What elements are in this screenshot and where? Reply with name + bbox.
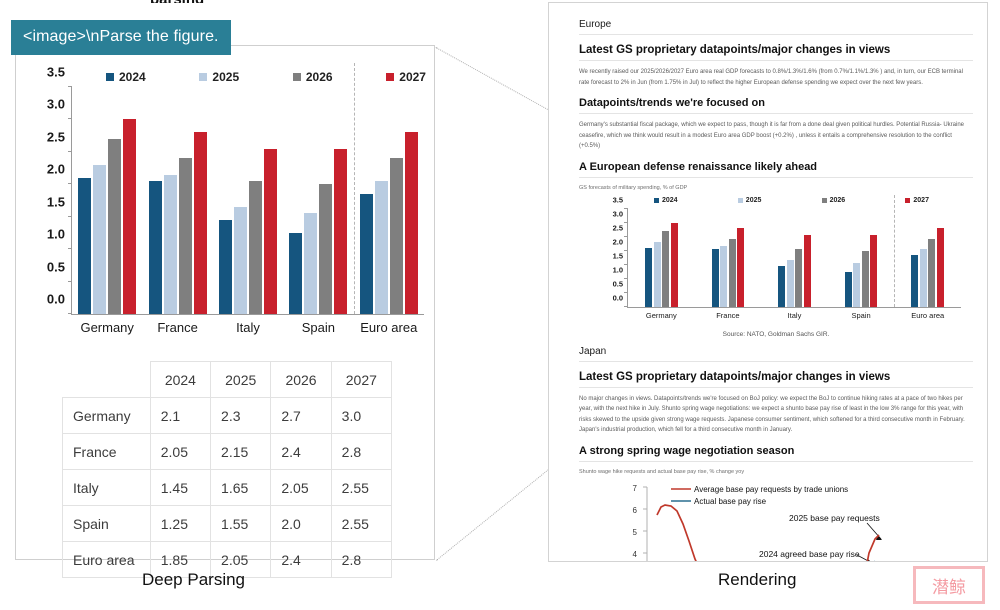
- y-tick-4: 4: [633, 550, 638, 559]
- legend-label-2027: 2027: [399, 70, 426, 84]
- legend-swatch-2026: [293, 73, 301, 81]
- exhibit-title-japan: A strong spring wage negotiation season: [579, 445, 973, 457]
- bar-germany-2025: [654, 242, 661, 306]
- legend-item-2027: 2027: [905, 197, 929, 204]
- table-cell-france-2025: 2.15: [211, 434, 271, 470]
- table-column-header: 2027: [331, 362, 391, 398]
- table-cell-spain-2027: 2.55: [331, 506, 391, 542]
- y-axis-label: 2.5: [613, 223, 628, 232]
- y-axis-label: 0.0: [47, 292, 72, 307]
- x-axis-label: Spain: [283, 320, 353, 335]
- table-row-header: Germany: [63, 398, 151, 434]
- document-body: Europe Latest GS proprietary datapoints/…: [579, 13, 973, 562]
- table-cell-france-2026: 2.4: [271, 434, 331, 470]
- bar-france-2027: [737, 228, 744, 306]
- legend-label-2025: 2025: [746, 197, 762, 204]
- section-region-europe: Europe: [579, 19, 973, 30]
- bar-germany-2026: [662, 231, 669, 307]
- legend-label-2027: 2027: [913, 197, 929, 204]
- bar-italy-2027: [804, 235, 811, 306]
- legend-swatch-2026: [822, 198, 827, 203]
- chart-subtitle: GS forecasts of military spending, % of …: [579, 185, 973, 191]
- japan-line-requests: [657, 505, 706, 563]
- bar-germany-2024: [78, 178, 91, 314]
- divider: [579, 60, 973, 61]
- table-row-header: Euro area: [63, 542, 151, 578]
- japan-line-chart: 7 6 5 4 Average base pay requests by tra…: [579, 479, 974, 563]
- bar-italy-2025: [234, 207, 247, 314]
- japan-legend-label-requests: Average base pay requests by trade union…: [694, 485, 848, 494]
- bar-euro-area-2025: [375, 181, 388, 314]
- divider: [579, 461, 973, 462]
- japan-legend-label-actual: Actual base pay rise: [694, 497, 767, 506]
- table-body: 2024202520262027Germany2.12.32.73.0Franc…: [63, 362, 392, 578]
- x-axis-label: Spain: [828, 311, 895, 320]
- bar-spain-2026: [862, 251, 869, 307]
- legend-swatch-2025: [199, 73, 207, 81]
- bar-france-2026: [179, 158, 192, 314]
- bar-france-2026: [729, 239, 736, 306]
- japan-annotation-2024: 2024 agreed base pay rise: [759, 549, 860, 559]
- divider: [579, 361, 973, 362]
- bar-spain-2025: [853, 263, 860, 306]
- table-row: Italy1.451.652.052.55: [63, 470, 392, 506]
- bar-chart: 2024 2025 2026 2027 0.00.51.01.52.02.53.…: [16, 61, 434, 351]
- table-cell-euro-area-2026: 2.4: [271, 542, 331, 578]
- table-cell-germany-2025: 2.3: [211, 398, 271, 434]
- legend-item-2026: 2026: [293, 70, 333, 84]
- rendering-panel: Europe Latest GS proprietary datapoints/…: [548, 2, 988, 562]
- bar-euro-area-2024: [360, 194, 373, 314]
- table-cell-france-2027: 2.8: [331, 434, 391, 470]
- y-axis-label: 3.0: [613, 209, 628, 218]
- x-axis-label: France: [695, 311, 762, 320]
- embedded-plot-area: 0.00.51.01.52.02.53.03.5GermanyFranceIta…: [627, 209, 961, 308]
- y-tick-5: 5: [633, 528, 638, 537]
- prompt-chip: <image>\nParse the figure.: [11, 20, 231, 55]
- x-axis-label: Germany: [72, 320, 142, 335]
- section-region-japan: Japan: [579, 346, 973, 357]
- watermark-logo: 潜鲸: [913, 566, 985, 604]
- table-column-header: 2026: [271, 362, 331, 398]
- legend-label-2024: 2024: [119, 70, 146, 84]
- bar-euro-area-2027: [937, 228, 944, 306]
- legend-item-2025: 2025: [738, 197, 762, 204]
- bar-germany-2027: [123, 119, 136, 314]
- section-heading-europe-latest: Latest GS proprietary datapoints/major c…: [579, 44, 973, 56]
- y-axis-label: 1.0: [613, 265, 628, 274]
- bar-group: France: [695, 209, 762, 307]
- japan-line-actual-right: [872, 561, 875, 563]
- y-axis-label: 3.5: [47, 65, 72, 80]
- caption-rendering: Rendering: [718, 570, 796, 590]
- embedded-bar-chart: 2024 2025 2026 2027 0.00.51.01.52.02.53.…: [579, 193, 969, 328]
- bar-germany-2024: [645, 248, 652, 307]
- table-cell-germany-2024: 2.1: [150, 398, 210, 434]
- bar-france-2025: [720, 246, 727, 306]
- legend-swatch-2025: [738, 198, 743, 203]
- y-tick-6: 6: [633, 506, 638, 515]
- legend-item-2024: 2024: [654, 197, 678, 204]
- legend-label-2026: 2026: [830, 197, 846, 204]
- bar-group: Germany: [72, 87, 142, 314]
- bar-france-2024: [712, 249, 719, 306]
- bar-germany-2027: [671, 223, 678, 307]
- bar-spain-2024: [289, 233, 302, 314]
- bar-italy-2025: [787, 260, 794, 306]
- table-row: Spain1.251.552.02.55: [63, 506, 392, 542]
- bar-spain-2025: [304, 213, 317, 314]
- y-axis-label: 3.0: [47, 97, 72, 112]
- bar-group: Euro area: [894, 209, 961, 307]
- clipped-header-text: parsing: [150, 0, 380, 3]
- bar-euro-area-2024: [911, 255, 918, 307]
- bar-group: France: [142, 87, 212, 314]
- y-axis-label: 1.5: [47, 194, 72, 209]
- bar-euro-area-2025: [920, 249, 927, 306]
- legend-item-2025: 2025: [199, 70, 239, 84]
- bar-group: Germany: [628, 209, 695, 307]
- bar-france-2027: [194, 132, 207, 314]
- chart-source: Source: NATO, Goldman Sachs GIR.: [579, 331, 973, 338]
- divider: [579, 113, 973, 114]
- legend-item-2026: 2026: [822, 197, 846, 204]
- legend-label-2025: 2025: [212, 70, 239, 84]
- table-column-header: 2025: [211, 362, 271, 398]
- table-row-header: Italy: [63, 470, 151, 506]
- bar-group: Spain: [828, 209, 895, 307]
- bar-group: Italy: [213, 87, 283, 314]
- divider: [579, 34, 973, 35]
- bar-group: Euro area: [354, 87, 424, 314]
- y-tick-7: 7: [633, 484, 638, 493]
- divider: [579, 177, 973, 178]
- table-cell-spain-2024: 1.25: [150, 506, 210, 542]
- x-axis-label: Euro area: [894, 311, 961, 320]
- table-cell-italy-2025: 1.65: [211, 470, 271, 506]
- bar-euro-area-2026: [390, 158, 403, 314]
- bar-italy-2024: [219, 220, 232, 314]
- y-axis-label: 2.0: [47, 162, 72, 177]
- japan-chart-svg: 7 6 5 4 Average base pay requests by tra…: [579, 479, 974, 563]
- y-axis-label: 1.5: [613, 251, 628, 260]
- japan-chart-subtitle: Shunto wage hike requests and actual bas…: [579, 469, 973, 475]
- bar-spain-2024: [845, 272, 852, 307]
- table-cell-france-2024: 2.05: [150, 434, 210, 470]
- y-axis-label: 0.0: [613, 293, 628, 302]
- y-axis-label: 0.5: [47, 259, 72, 274]
- bar-italy-2027: [264, 149, 277, 314]
- x-axis-label: France: [142, 320, 212, 335]
- bar-group: Italy: [761, 209, 828, 307]
- divider: [579, 387, 973, 388]
- table-cell-italy-2024: 1.45: [150, 470, 210, 506]
- exhibit-title-europe: A European defense renaissance likely ah…: [579, 161, 973, 173]
- japan-annotation-2025: 2025 base pay requests: [789, 513, 880, 523]
- paragraph-europe-datapoints: Germany's substantial fiscal package, wh…: [579, 120, 973, 152]
- bar-germany-2025: [93, 165, 106, 314]
- table-column-header: 2024: [150, 362, 210, 398]
- bar-italy-2024: [778, 266, 785, 307]
- table-row: Germany2.12.32.73.0: [63, 398, 392, 434]
- x-axis-label: Euro area: [354, 320, 424, 335]
- x-axis-label: Germany: [628, 311, 695, 320]
- y-axis-label: 3.5: [613, 195, 628, 204]
- chart-legend: 2024 2025 2026 2027: [106, 69, 426, 85]
- paragraph-japan-latest: No major changes in views. Datapoints/tr…: [579, 394, 973, 436]
- x-axis-label: Italy: [761, 311, 828, 320]
- parsed-data-table: 2024202520262027Germany2.12.32.73.0Franc…: [62, 361, 392, 578]
- legend-swatch-2027: [905, 198, 910, 203]
- bar-euro-area-2027: [405, 132, 418, 314]
- table-header-row: 2024202520262027: [63, 362, 392, 398]
- bar-france-2024: [149, 181, 162, 314]
- table-corner-cell: [63, 362, 151, 398]
- plot-area: 0.00.51.01.52.02.53.03.5GermanyFranceIta…: [71, 87, 424, 315]
- table-row: France2.052.152.42.8: [63, 434, 392, 470]
- y-axis-label: 0.5: [613, 279, 628, 288]
- deep-parsing-panel: 2024 2025 2026 2027 0.00.51.01.52.02.53.…: [15, 45, 435, 560]
- embedded-chart-legend: 2024 2025 2026 2027: [654, 196, 929, 206]
- bar-germany-2026: [108, 139, 121, 314]
- y-axis-label: 2.0: [613, 237, 628, 246]
- legend-label-2024: 2024: [662, 197, 678, 204]
- caption-deep-parsing: Deep Parsing: [142, 570, 245, 590]
- legend-swatch-2027: [386, 73, 394, 81]
- legend-swatch-2024: [106, 73, 114, 81]
- bar-spain-2027: [334, 149, 347, 314]
- bar-italy-2026: [249, 181, 262, 314]
- legend-item-2027: 2027: [386, 70, 426, 84]
- x-axis-label: Italy: [213, 320, 283, 335]
- section-heading-europe-datapoints: Datapoints/trends we're focused on: [579, 97, 973, 109]
- y-axis-label: 1.0: [47, 227, 72, 242]
- table-row-header: France: [63, 434, 151, 470]
- table-cell-spain-2026: 2.0: [271, 506, 331, 542]
- paragraph-europe-latest: We recently raised our 2025/2026/2027 Eu…: [579, 67, 973, 88]
- y-axis-label: 2.5: [47, 129, 72, 144]
- legend-label-2026: 2026: [306, 70, 333, 84]
- bar-france-2025: [164, 175, 177, 314]
- table-cell-spain-2025: 1.55: [211, 506, 271, 542]
- table-cell-germany-2026: 2.7: [271, 398, 331, 434]
- table-cell-italy-2027: 2.55: [331, 470, 391, 506]
- table-cell-germany-2027: 3.0: [331, 398, 391, 434]
- bar-italy-2026: [795, 249, 802, 306]
- legend-swatch-2024: [654, 198, 659, 203]
- table-row-header: Spain: [63, 506, 151, 542]
- table-cell-euro-area-2027: 2.8: [331, 542, 391, 578]
- bar-group: Spain: [283, 87, 353, 314]
- bar-euro-area-2026: [928, 239, 935, 306]
- table-cell-italy-2026: 2.05: [271, 470, 331, 506]
- bar-spain-2026: [319, 184, 332, 314]
- bar-spain-2027: [870, 235, 877, 306]
- section-heading-japan-latest: Latest GS proprietary datapoints/major c…: [579, 371, 973, 383]
- legend-item-2024: 2024: [106, 70, 146, 84]
